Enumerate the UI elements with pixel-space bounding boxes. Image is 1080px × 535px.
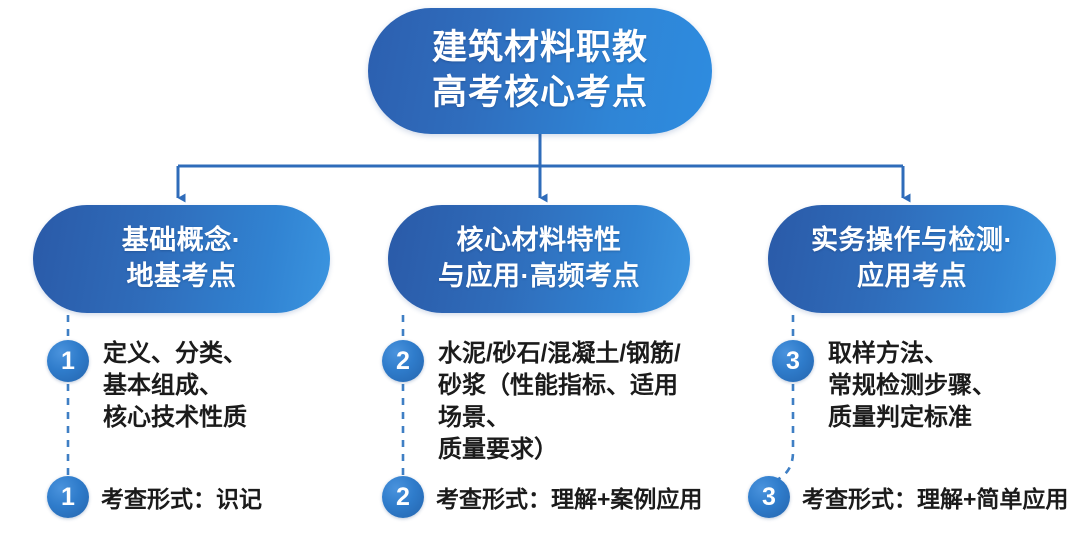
detail-badge-3: 3	[772, 340, 814, 382]
category-node-2: 核心材料特性 与应用·高频考点	[388, 205, 690, 313]
title-line-1: 建筑材料职教	[432, 26, 648, 71]
detail-2-line-2: 砂浆（性能指标、适用	[438, 370, 681, 402]
exam-form-label-1: 考查形式：识记	[101, 480, 262, 514]
exam-form-group-1: 1 考查形式：识记	[47, 476, 262, 518]
detail-3-line-3: 质量判定标准	[828, 402, 996, 434]
detail-group-2: 2 水泥/砂石/混凝土/钢筋/ 砂浆（性能指标、适用 场景、 质量要求）	[382, 340, 681, 467]
exam-form-group-3: 3 考查形式：理解+简单应用	[748, 476, 1068, 518]
diagram-title-node: 建筑材料职教 高考核心考点	[368, 8, 712, 134]
category-1-heading-line-2: 地基考点	[127, 259, 237, 295]
detail-group-1: 1 定义、分类、 基本组成、 核心技术性质	[47, 340, 247, 434]
category-2-heading-line-1: 核心材料特性	[457, 223, 622, 259]
category-node-1: 基础概念· 地基考点	[33, 205, 330, 313]
exam-form-label-2: 考查形式：理解+案例应用	[436, 480, 702, 514]
category-2-heading-line-2: 与应用·高频考点	[438, 259, 640, 295]
detail-text-2: 水泥/砂石/混凝土/钢筋/ 砂浆（性能指标、适用 场景、 质量要求）	[438, 338, 681, 467]
exam-badge-1: 1	[47, 476, 89, 518]
detail-3-line-2: 常规检测步骤、	[828, 370, 996, 402]
exam-form-group-2: 2 考查形式：理解+案例应用	[382, 476, 702, 518]
category-3-heading-line-2: 应用考点	[857, 259, 967, 295]
detail-2-line-1: 水泥/砂石/混凝土/钢筋/	[438, 338, 681, 370]
detail-text-3: 取样方法、 常规检测步骤、 质量判定标准	[828, 338, 996, 434]
detail-2-line-4: 质量要求）	[438, 434, 681, 466]
exam-badge-2: 2	[382, 476, 424, 518]
mindmap-diagram: 建筑材料职教 高考核心考点 基础概念· 地基考点 核心材料特性 与应用·高频考点…	[0, 0, 1080, 535]
category-node-3: 实务操作与检测· 应用考点	[768, 205, 1056, 313]
detail-text-1: 定义、分类、 基本组成、 核心技术性质	[103, 338, 247, 434]
detail-badge-1: 1	[47, 340, 89, 382]
category-1-heading-line-1: 基础概念·	[122, 223, 242, 259]
detail-1-line-3: 核心技术性质	[103, 402, 247, 434]
detail-1-line-1: 定义、分类、	[103, 338, 247, 370]
exam-form-label-3: 考查形式：理解+简单应用	[802, 480, 1068, 514]
detail-3-line-1: 取样方法、	[828, 338, 996, 370]
category-3-heading-line-1: 实务操作与检测·	[811, 223, 1013, 259]
detail-group-3: 3 取样方法、 常规检测步骤、 质量判定标准	[772, 340, 996, 434]
detail-2-line-3: 场景、	[438, 402, 681, 434]
detail-1-line-2: 基本组成、	[103, 370, 247, 402]
exam-badge-3: 3	[748, 476, 790, 518]
detail-badge-2: 2	[382, 340, 424, 382]
title-line-2: 高考核心考点	[432, 71, 648, 116]
